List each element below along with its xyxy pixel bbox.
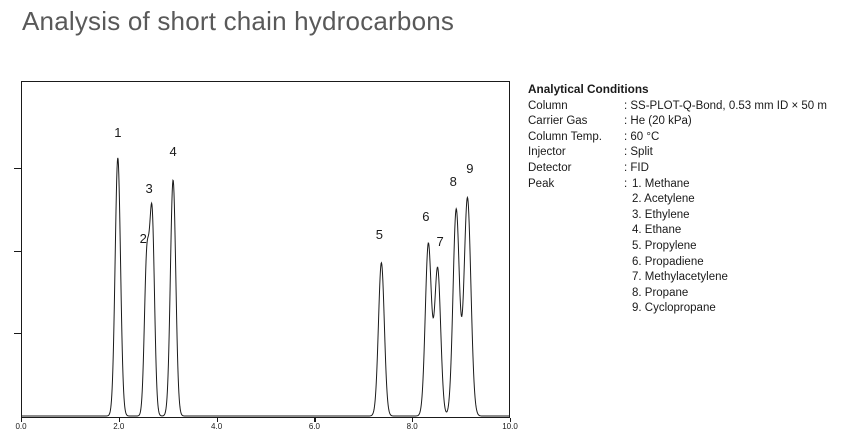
peak-list-item-4: 4. Ethane (632, 223, 846, 239)
y-axis-tick-1 (14, 251, 21, 252)
x-axis-tick-label-4: 8.0 (407, 422, 418, 431)
conditions-rows: Column: SS-PLOT-Q-Bond, 0.53 mm ID × 50 … (528, 99, 846, 177)
peak-list-item-6: 6. Propadiene (632, 255, 846, 271)
condition-key-1: Carrier Gas (528, 114, 624, 130)
condition-row: Detector: FID (528, 161, 846, 177)
peak-list-row: 2. Acetylene (528, 192, 846, 208)
peak-label-8: 8 (450, 174, 457, 189)
peak-list-item-1: 1. Methane (632, 177, 846, 193)
conditions-heading: Analytical Conditions (528, 82, 846, 98)
peak-label-4: 4 (169, 144, 176, 159)
peak-list-row: 8. Propane (528, 286, 846, 302)
condition-value-3: : Split (624, 145, 846, 161)
page-title: Analysis of short chain hydrocarbons (22, 6, 454, 37)
peak-list-key: Peak (528, 177, 624, 193)
y-axis-tick-2 (14, 168, 21, 169)
peak-list-row: 6. Propadiene (528, 255, 846, 271)
condition-key-0: Column (528, 99, 624, 115)
analytical-conditions-panel: Analytical Conditions Column: SS-PLOT-Q-… (528, 82, 846, 317)
peak-list-colon: : (624, 177, 632, 193)
x-axis-tick-label-5: 10.0 (502, 422, 518, 431)
x-axis-tick-label-2: 4.0 (211, 422, 222, 431)
peak-label-1: 1 (114, 125, 121, 140)
peak-list-block: Peak:1. Methane2. Acetylene3. Ethylene4.… (528, 177, 846, 317)
signal-trace-path (21, 158, 510, 416)
peak-list-row: 4. Ethane (528, 223, 846, 239)
condition-row: Column: SS-PLOT-Q-Bond, 0.53 mm ID × 50 … (528, 99, 846, 115)
peak-label-9: 9 (466, 161, 473, 176)
peak-list-row: 3. Ethylene (528, 208, 846, 224)
condition-value-2: : 60 °C (624, 130, 846, 146)
condition-key-4: Detector (528, 161, 624, 177)
peak-list-item-7: 7. Methylacetylene (632, 270, 846, 286)
peak-list-row: 7. Methylacetylene (528, 270, 846, 286)
x-axis-tick-label-1: 2.0 (113, 422, 124, 431)
peak-label-5: 5 (376, 227, 383, 242)
chromatogram-trace (21, 81, 510, 418)
condition-value-0: : SS-PLOT-Q-Bond, 0.53 mm ID × 50 m (624, 99, 846, 115)
y-axis-tick-0 (14, 333, 21, 334)
condition-row: Carrier Gas: He (20 kPa) (528, 114, 846, 130)
condition-value-1: : He (20 kPa) (624, 114, 846, 130)
peak-list-item-2: 2. Acetylene (632, 192, 846, 208)
x-axis-tick-label-0: 0.0 (15, 422, 26, 431)
peak-label-2: 2 (140, 231, 147, 246)
peak-label-6: 6 (422, 209, 429, 224)
peak-list-row: 5. Propylene (528, 239, 846, 255)
peak-label-3: 3 (145, 181, 152, 196)
x-axis-tick-label-3: 6.0 (309, 422, 320, 431)
chromatogram-chart: 0.02.04.06.08.010.0 123456789 (0, 60, 520, 441)
peak-list-row: Peak:1. Methane (528, 177, 846, 193)
peak-list-item-3: 3. Ethylene (632, 208, 846, 224)
peak-list-item-5: 5. Propylene (632, 239, 846, 255)
condition-key-3: Injector (528, 145, 624, 161)
peak-list-item-8: 8. Propane (632, 286, 846, 302)
peak-label-7: 7 (436, 234, 443, 249)
condition-key-2: Column Temp. (528, 130, 624, 146)
peak-list-row: 9. Cyclopropane (528, 301, 846, 317)
condition-row: Injector: Split (528, 145, 846, 161)
condition-value-4: : FID (624, 161, 846, 177)
peak-list-item-9: 9. Cyclopropane (632, 301, 846, 317)
condition-row: Column Temp.: 60 °C (528, 130, 846, 146)
